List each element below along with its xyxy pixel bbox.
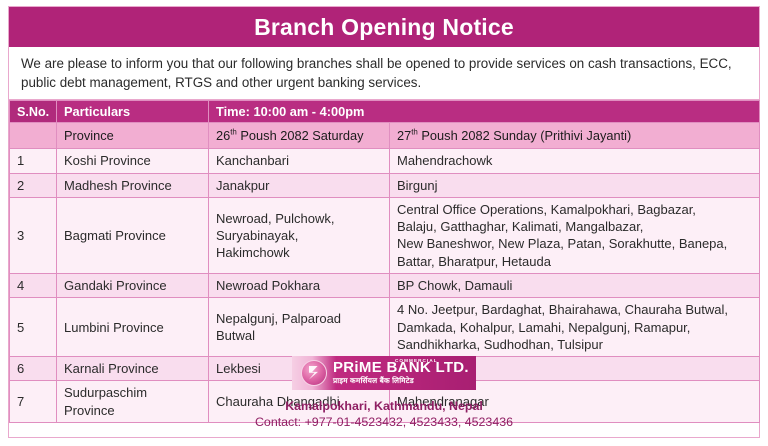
row-sno: 4 — [10, 274, 57, 298]
footer-contact: Contact: +977-01-4523432, 4523433, 45234… — [9, 414, 759, 431]
footer: PRiME BANK LTD. COMMERCIAL प्राइम कमर्सि… — [9, 356, 759, 431]
row-sno: 2 — [10, 173, 57, 197]
row-day2-branches: Central Office Operations, Kamalpokhari,… — [390, 197, 760, 273]
table-header-row-primary: S.No. Particulars Time: 10:00 am - 4:00p… — [10, 101, 760, 123]
row-day2-branches: Mahendrachowk — [390, 149, 760, 173]
row-day1-branches: Newroad, Pulchowk, Suryabinayak, Hakimch… — [209, 197, 390, 273]
header-date-sunday: 27th Poush 2082 Sunday (Prithivi Jayanti… — [390, 123, 760, 149]
date1-rest: Poush 2082 Saturday — [237, 128, 364, 143]
row-day1-branches: Janakpur — [209, 173, 390, 197]
table-row: 1 Koshi Province Kanchanbari Mahendracho… — [10, 149, 760, 173]
logo-text-block: PRiME BANK LTD. COMMERCIAL प्राइम कमर्सि… — [333, 360, 469, 384]
bank-logo: PRiME BANK LTD. COMMERCIAL प्राइम कमर्सि… — [292, 356, 476, 390]
prime-bank-emblem-icon — [301, 360, 327, 386]
header-date-saturday: 26th Poush 2082 Saturday — [209, 123, 390, 149]
row-sno: 5 — [10, 298, 57, 357]
row-day2-branches: 4 No. Jeetpur, Bardaghat, Bhairahawa, Ch… — [390, 298, 760, 357]
row-day1-branches: Kanchanbari — [209, 149, 390, 173]
logo-commercial-label: COMMERCIAL — [395, 359, 438, 364]
intro-paragraph: We are please to inform you that our fol… — [9, 47, 759, 100]
table-row: 3 Bagmati Province Newroad, Pulchowk, Su… — [10, 197, 760, 273]
table-header-row-secondary: Province 26th Poush 2082 Saturday 27th P… — [10, 123, 760, 149]
logo-nepali-name: प्राइम कमर्सियल बैंक लिमिटेड — [333, 377, 469, 384]
row-day1-branches: Nepalgunj, Palparoad Butwal — [209, 298, 390, 357]
date1-ordinal: th — [230, 128, 237, 137]
notice-frame: Branch Opening Notice We are please to i… — [8, 6, 760, 438]
title-bar: Branch Opening Notice — [9, 7, 759, 47]
table-row: 4 Gandaki Province Newroad Pokhara BP Ch… — [10, 274, 760, 298]
date2-ordinal: th — [411, 128, 418, 137]
row-day2-branches: BP Chowk, Damauli — [390, 274, 760, 298]
row-province: Gandaki Province — [57, 274, 209, 298]
row-province: Lumbini Province — [57, 298, 209, 357]
row-day2-branches: Birgunj — [390, 173, 760, 197]
date1-number: 26 — [216, 128, 230, 143]
header-sno-blank — [10, 123, 57, 149]
notice-page: Branch Opening Notice We are please to i… — [0, 0, 768, 446]
row-province: Bagmati Province — [57, 197, 209, 273]
row-province: Madhesh Province — [57, 173, 209, 197]
header-sno: S.No. — [10, 101, 57, 123]
table-row: 5 Lumbini Province Nepalgunj, Palparoad … — [10, 298, 760, 357]
date2-rest: Poush 2082 Sunday (Prithivi Jayanti) — [418, 128, 631, 143]
row-sno: 1 — [10, 149, 57, 173]
date2-number: 27 — [397, 128, 411, 143]
header-province: Province — [57, 123, 209, 149]
footer-address: Kamalpokhari, Kathmandu, Nepal — [9, 398, 759, 415]
page-title: Branch Opening Notice — [254, 16, 514, 39]
table-row: 2 Madhesh Province Janakpur Birgunj — [10, 173, 760, 197]
row-day1-branches: Newroad Pokhara — [209, 274, 390, 298]
header-particulars: Particulars — [57, 101, 209, 123]
row-province: Koshi Province — [57, 149, 209, 173]
row-sno: 3 — [10, 197, 57, 273]
header-time: Time: 10:00 am - 4:00pm — [209, 101, 760, 123]
